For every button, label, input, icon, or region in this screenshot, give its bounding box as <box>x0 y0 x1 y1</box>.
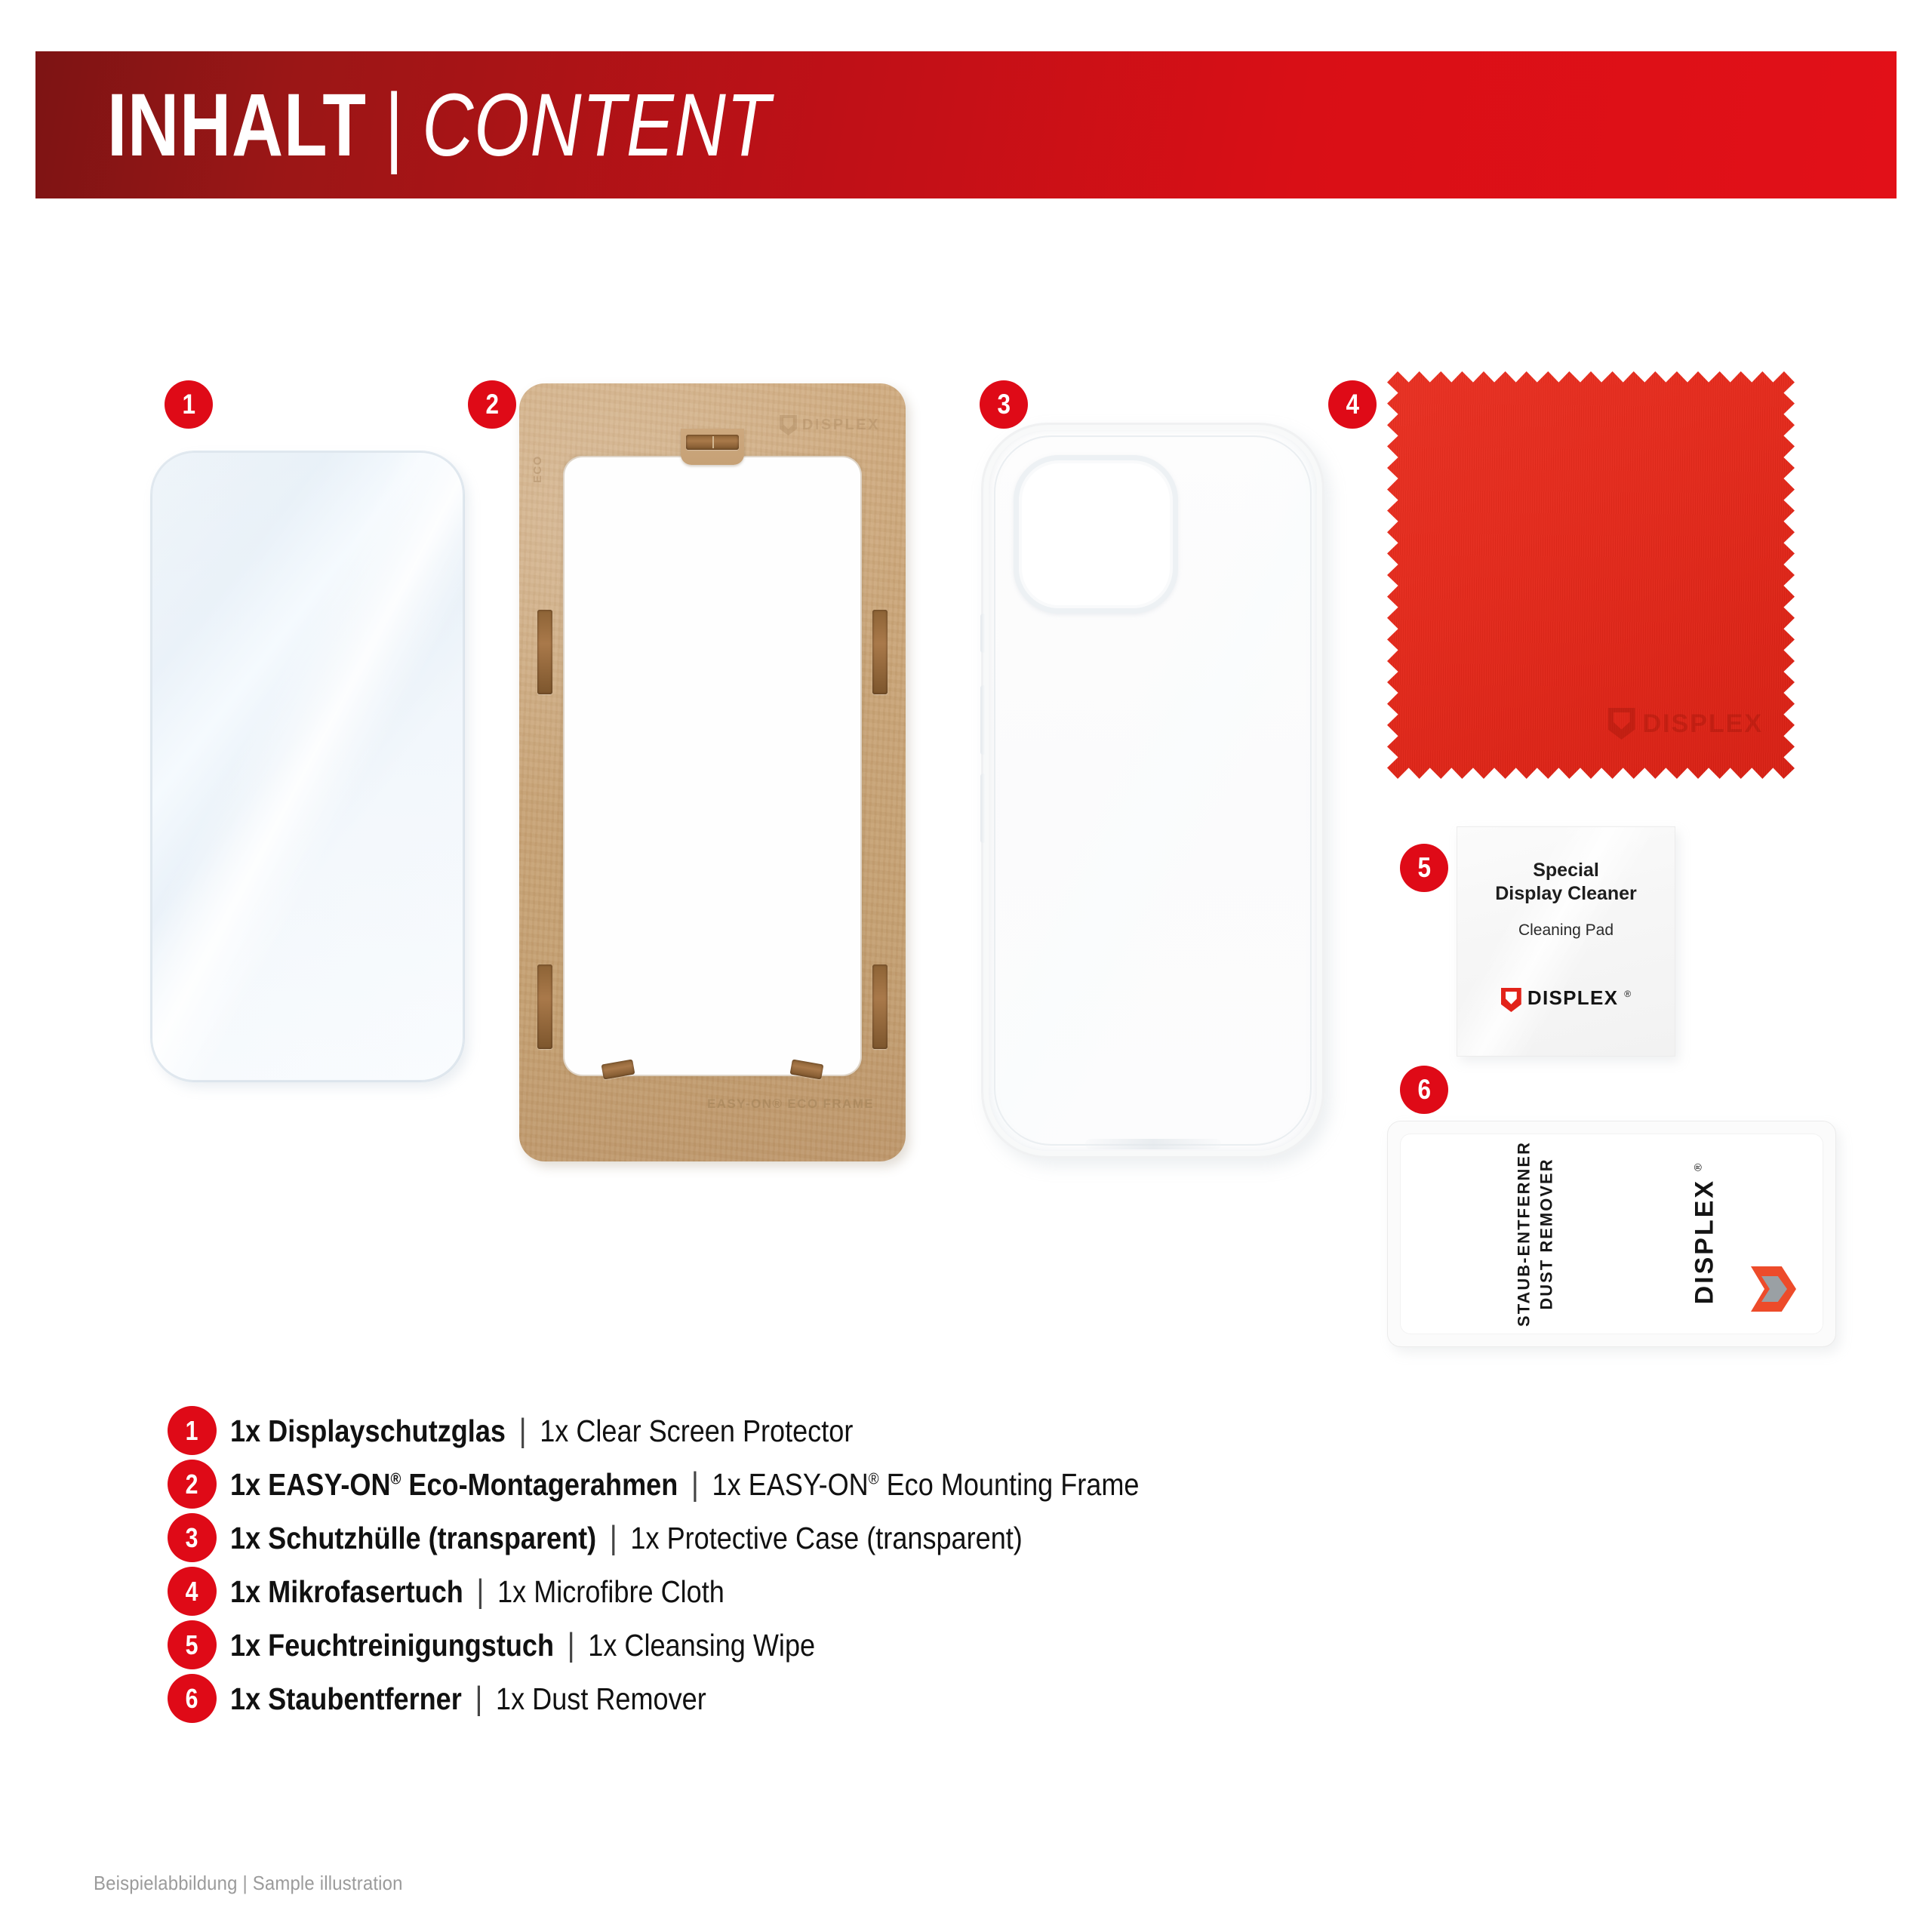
legend-label-en: 1x Microfibre Cloth <box>497 1574 724 1610</box>
legend-label-de: 1x EASY-ON® Eco-Montagerahmen <box>230 1467 678 1503</box>
legend-separator: | <box>475 1680 482 1718</box>
legend-text: 1x Feuchtreinigungstuch | 1x Cleansing W… <box>230 1626 815 1664</box>
microfibre-cloth: DISPLEX <box>1387 371 1795 779</box>
legend-label-de: 1x Feuchtreinigungstuch <box>230 1628 554 1663</box>
legend-separator: | <box>568 1626 575 1664</box>
frame-slot <box>537 610 552 694</box>
volume-up-cutout <box>980 685 986 755</box>
displex-dust-logo: DISPLEX ® <box>1692 1164 1718 1305</box>
dust-label-de: STAUB-ENTFERNER <box>1514 1141 1533 1327</box>
legend-label-de: 1x Staubentferner <box>230 1681 462 1717</box>
sachet-title-line2: Display Cleaner <box>1495 882 1637 906</box>
cleaning-pad-sachet: Special Display Cleaner Cleaning Pad DIS… <box>1457 826 1675 1057</box>
legend-item: 1 1x Displayschutzglas | 1x Clear Screen… <box>0 1404 1932 1457</box>
displex-shield-icon <box>780 415 797 435</box>
legend-label-en: 1x Dust Remover <box>496 1681 706 1717</box>
mute-switch-cutout <box>980 614 986 653</box>
dust-label-en: DUST REMOVER <box>1537 1158 1555 1309</box>
dust-remover-sticker: STAUB-ENTFERNER DUST REMOVER DISPLEX ® <box>1387 1121 1836 1347</box>
legend-text: 1x Schutzhülle (transparent) | 1x Protec… <box>230 1519 1023 1557</box>
camera-cutout <box>1014 455 1178 614</box>
speaker-cutout <box>1085 1139 1221 1149</box>
legend-text: 1x Mikrofasertuch | 1x Microfibre Cloth <box>230 1573 724 1611</box>
legend-label-de: 1x Mikrofasertuch <box>230 1574 463 1610</box>
legend-text: 1x Staubentferner | 1x Dust Remover <box>230 1680 706 1718</box>
dust-label: STAUB-ENTFERNER DUST REMOVER <box>1512 1141 1557 1327</box>
frame-slot <box>537 964 552 1049</box>
legend-text: 1x Displayschutzglas | 1x Clear Screen P… <box>230 1412 853 1450</box>
legend-list: 1 1x Displayschutzglas | 1x Clear Screen… <box>0 1404 1932 1725</box>
screen-protector-glass <box>151 451 464 1081</box>
eco-mounting-frame: DISPLEX EASY-ON® ECO FRAME ECO <box>519 383 906 1161</box>
illustration-badge-1: 1 <box>165 380 213 429</box>
displex-shield-icon <box>1608 708 1635 740</box>
legend-label-en: 1x Protective Case (transparent) <box>630 1521 1022 1556</box>
illustration-badge-5: 5 <box>1400 844 1448 892</box>
legend-badge-3: 3 <box>168 1513 217 1562</box>
frame-top-tab <box>681 429 744 465</box>
legend-separator: | <box>610 1519 617 1557</box>
illustration-badge-3: 3 <box>980 380 1028 429</box>
legend-badge-4: 4 <box>168 1567 217 1616</box>
frame-window <box>563 456 862 1076</box>
legend-item: 4 1x Mikrofasertuch | 1x Microfibre Clot… <box>0 1564 1932 1618</box>
displex-emboss-logo: DISPLEX <box>780 415 880 435</box>
frame-slot <box>686 435 739 450</box>
dust-sticker-face: STAUB-ENTFERNER DUST REMOVER DISPLEX ® <box>1400 1134 1823 1334</box>
frame-slot <box>872 964 888 1049</box>
legend-badge-1: 1 <box>168 1406 217 1455</box>
legend-separator: | <box>519 1412 527 1450</box>
legend-badge-6: 6 <box>168 1674 217 1723</box>
legend-badge-2: 2 <box>168 1460 217 1509</box>
frame-emboss-side-text: ECO <box>531 455 544 483</box>
legend-separator: | <box>691 1466 699 1503</box>
footnote: Beispielabbildung | Sample illustration <box>94 1872 403 1895</box>
frame-emboss-text: EASY-ON® ECO FRAME <box>707 1097 874 1112</box>
content-sheet: INHALT | CONTENT 1 2 DISPLEX EASY-ON® EC… <box>0 0 1932 1932</box>
legend-label-de: 1x Schutzhülle (transparent) <box>230 1521 596 1556</box>
illustration-stage: 1 2 DISPLEX EASY-ON® ECO FRAME ECO 3 <box>0 0 1932 1404</box>
sachet-subtitle: Cleaning Pad <box>1518 921 1614 940</box>
displex-cloth-logo: DISPLEX <box>1608 708 1763 740</box>
legend-item: 6 1x Staubentferner | 1x Dust Remover <box>0 1672 1932 1725</box>
displex-sachet-logo: DISPLEX ® <box>1501 988 1631 1012</box>
displex-shield-icon <box>1501 988 1521 1012</box>
illustration-badge-4: 4 <box>1328 380 1377 429</box>
legend-label-en: 1x Clear Screen Protector <box>540 1414 853 1449</box>
sachet-title-line1: Special <box>1533 859 1599 882</box>
legend-label-en: 1x EASY-ON® Eco Mounting Frame <box>712 1467 1140 1503</box>
displex-d-mark-icon <box>1751 1266 1796 1312</box>
illustration-badge-6: 6 <box>1400 1066 1448 1114</box>
volume-down-cutout <box>980 774 986 843</box>
frame-slot <box>872 610 888 694</box>
legend-label-de: 1x Displayschutzglas <box>230 1414 506 1449</box>
legend-badge-5: 5 <box>168 1620 217 1669</box>
legend-item: 5 1x Feuchtreinigungstuch | 1x Cleansing… <box>0 1618 1932 1672</box>
illustration-badge-2: 2 <box>468 380 516 429</box>
legend-text: 1x EASY-ON® Eco-Montagerahmen | 1x EASY-… <box>230 1466 1140 1503</box>
protective-case <box>981 423 1324 1158</box>
legend-item: 3 1x Schutzhülle (transparent) | 1x Prot… <box>0 1511 1932 1564</box>
legend-item: 2 1x EASY-ON® Eco-Montagerahmen | 1x EAS… <box>0 1457 1932 1511</box>
legend-separator: | <box>476 1573 484 1611</box>
legend-label-en: 1x Cleansing Wipe <box>588 1628 815 1663</box>
